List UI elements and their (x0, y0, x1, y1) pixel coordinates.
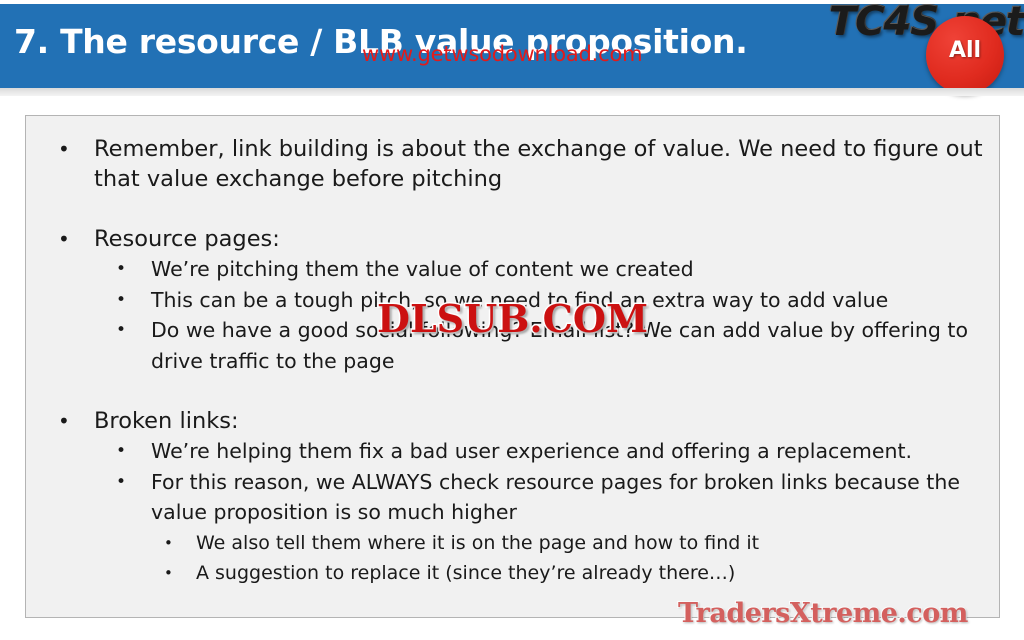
list-item-text: Resource pages: (94, 224, 991, 254)
list-item-text: Remember, link building is about the exc… (94, 134, 991, 194)
list-item: •We’re pitching them the value of conten… (116, 254, 991, 285)
brand-badge-label: All (926, 38, 1004, 63)
slide-header-banner: 7. The resource / BLB value proposition.… (0, 4, 1024, 88)
bullet-group-spacer (36, 376, 991, 406)
page-title: 7. The resource / BLB value proposition. (14, 22, 747, 61)
bullet-point-icon: • (58, 406, 94, 436)
list-item: •A suggestion to replace it (since they’… (164, 558, 991, 588)
list-item-text: This can be a tough pitch, so we need to… (151, 285, 991, 316)
header-underline-divider (0, 88, 1024, 96)
list-item-text: We also tell them where it is on the pag… (196, 528, 991, 558)
list-item-text: A suggestion to replace it (since they’r… (196, 558, 991, 588)
bullet-point-icon: • (116, 315, 151, 346)
list-item-text: Do we have a good social following? Emai… (151, 315, 991, 376)
bullet-list: •Remember, link building is about the ex… (36, 134, 991, 588)
bullet-point-icon: • (116, 467, 151, 498)
list-item-text: We’re pitching them the value of content… (151, 254, 991, 285)
bullet-point-icon: • (58, 134, 94, 164)
list-item: •This can be a tough pitch, so we need t… (116, 285, 991, 316)
list-item: •Broken links: (58, 406, 991, 436)
bullet-group-spacer (36, 194, 991, 224)
bullet-point-icon: • (116, 254, 151, 285)
bullet-point-icon: • (164, 528, 196, 558)
list-item-text: Broken links: (94, 406, 991, 436)
list-item: •Resource pages: (58, 224, 991, 254)
bullet-point-icon: • (58, 224, 94, 254)
content-panel: •Remember, link building is about the ex… (25, 115, 1000, 618)
list-item-text: For this reason, we ALWAYS check resourc… (151, 467, 991, 528)
list-item: •Do we have a good social following? Ema… (116, 315, 991, 376)
list-item-text: We’re helping them fix a bad user experi… (151, 436, 991, 467)
bullet-point-icon: • (164, 558, 196, 588)
list-item: •Remember, link building is about the ex… (58, 134, 991, 194)
bullet-point-icon: • (116, 285, 151, 316)
bullet-point-icon: • (116, 436, 151, 467)
list-item: •We’re helping them fix a bad user exper… (116, 436, 991, 467)
list-item: •We also tell them where it is on the pa… (164, 528, 991, 558)
list-item: •For this reason, we ALWAYS check resour… (116, 467, 991, 528)
